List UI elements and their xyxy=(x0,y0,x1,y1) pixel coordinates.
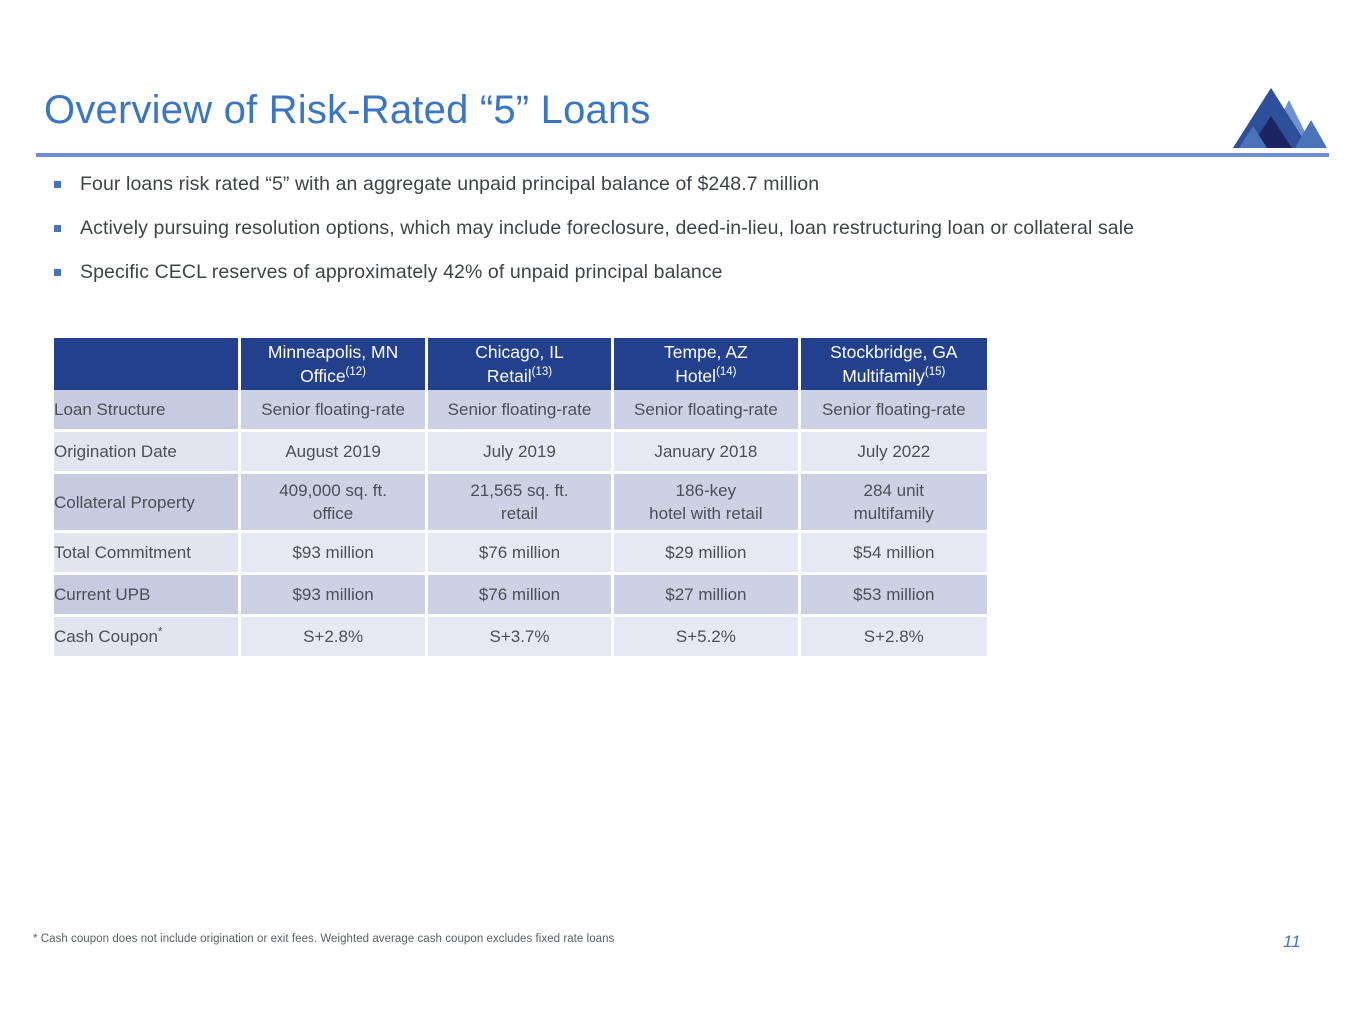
table-cell: Senior floating-rate xyxy=(241,390,427,432)
row-label-text: Origination Date xyxy=(54,442,177,461)
row-label-text: Loan Structure xyxy=(54,400,166,419)
table-cell: S+5.2% xyxy=(614,617,800,656)
table-row: Origination Date August 2019 July 2019 J… xyxy=(54,432,987,474)
row-label-sup: * xyxy=(158,626,162,638)
column-header-line2: Multifamily xyxy=(842,366,925,386)
column-header-footnote-ref: (14) xyxy=(716,366,736,378)
table-row: Collateral Property 409,000 sq. ft. offi… xyxy=(54,474,987,533)
square-bullet-icon xyxy=(54,225,61,232)
table-cell: 186-key hotel with retail xyxy=(614,474,800,533)
column-header-line1: Stockbridge, GA xyxy=(830,342,957,362)
risk-rated-loans-table: Minneapolis, MN Office(12) Chicago, IL R… xyxy=(54,338,987,656)
list-item-text: Actively pursuing resolution options, wh… xyxy=(80,214,1134,242)
list-item: Specific CECL reserves of approximately … xyxy=(54,258,1324,286)
table-cell: S+3.7% xyxy=(428,617,614,656)
table-row: Cash Coupon* S+2.8% S+3.7% S+5.2% S+2.8% xyxy=(54,617,987,656)
row-label: Cash Coupon* xyxy=(54,617,241,656)
row-label-text: Cash Coupon xyxy=(54,627,158,646)
table-cell: $76 million xyxy=(428,575,614,617)
column-header-stockbridge: Stockbridge, GA Multifamily(15) xyxy=(801,338,987,390)
row-label-text: Current UPB xyxy=(54,585,150,604)
column-header-line1: Chicago, IL xyxy=(475,342,564,362)
row-label-text: Total Commitment xyxy=(54,543,191,562)
footnote: * Cash coupon does not include originati… xyxy=(33,933,614,945)
column-header-line2: Retail xyxy=(487,366,532,386)
table-cell: Senior floating-rate xyxy=(801,390,987,432)
table-cell: $93 million xyxy=(241,575,427,617)
table-cell: 284 unit multifamily xyxy=(801,474,987,533)
row-label: Loan Structure xyxy=(54,390,241,432)
row-label: Current UPB xyxy=(54,575,241,617)
table-cell: 21,565 sq. ft. retail xyxy=(428,474,614,533)
column-header-footnote-ref: (13) xyxy=(532,366,552,378)
table-cell: $29 million xyxy=(614,533,800,575)
list-item-text: Specific CECL reserves of approximately … xyxy=(80,258,723,286)
table-cell: Senior floating-rate xyxy=(428,390,614,432)
row-label-text: Collateral Property xyxy=(54,493,195,512)
bullet-list: Four loans risk rated “5” with an aggreg… xyxy=(54,170,1324,302)
table-row: Current UPB $93 million $76 million $27 … xyxy=(54,575,987,617)
table-cell: S+2.8% xyxy=(801,617,987,656)
table-cell: S+2.8% xyxy=(241,617,427,656)
title-divider xyxy=(36,153,1329,157)
column-header-tempe: Tempe, AZ Hotel(14) xyxy=(614,338,800,390)
table-row: Total Commitment $93 million $76 million… xyxy=(54,533,987,575)
table-row: Loan Structure Senior floating-rate Seni… xyxy=(54,390,987,432)
column-header-footnote-ref: (15) xyxy=(925,366,945,378)
column-header-line2: Office xyxy=(300,366,345,386)
row-label: Total Commitment xyxy=(54,533,241,575)
column-header-footnote-ref: (12) xyxy=(346,366,366,378)
table-cell: $93 million xyxy=(241,533,427,575)
page-number: 11 xyxy=(1283,932,1301,952)
table-corner-cell xyxy=(54,338,241,390)
column-header-minneapolis: Minneapolis, MN Office(12) xyxy=(241,338,427,390)
table-cell: July 2019 xyxy=(428,432,614,474)
row-label: Origination Date xyxy=(54,432,241,474)
square-bullet-icon xyxy=(54,269,61,276)
table-cell: $76 million xyxy=(428,533,614,575)
list-item-text: Four loans risk rated “5” with an aggreg… xyxy=(80,170,819,198)
list-item: Four loans risk rated “5” with an aggreg… xyxy=(54,170,1324,198)
table-cell: Senior floating-rate xyxy=(614,390,800,432)
column-header-chicago: Chicago, IL Retail(13) xyxy=(428,338,614,390)
table-cell: July 2022 xyxy=(801,432,987,474)
table-cell: August 2019 xyxy=(241,432,427,474)
table-header-row: Minneapolis, MN Office(12) Chicago, IL R… xyxy=(54,338,987,390)
column-header-line1: Tempe, AZ xyxy=(664,342,748,362)
table-cell: $27 million xyxy=(614,575,800,617)
list-item: Actively pursuing resolution options, wh… xyxy=(54,214,1324,242)
table-cell: January 2018 xyxy=(614,432,800,474)
table-cell: $53 million xyxy=(801,575,987,617)
column-header-line1: Minneapolis, MN xyxy=(268,342,398,362)
mountain-logo xyxy=(1231,86,1333,148)
table-cell: $54 million xyxy=(801,533,987,575)
table-cell: 409,000 sq. ft. office xyxy=(241,474,427,533)
page-title: Overview of Risk-Rated “5” Loans xyxy=(44,88,651,133)
row-label: Collateral Property xyxy=(54,474,241,533)
square-bullet-icon xyxy=(54,181,61,188)
column-header-line2: Hotel xyxy=(675,366,716,386)
